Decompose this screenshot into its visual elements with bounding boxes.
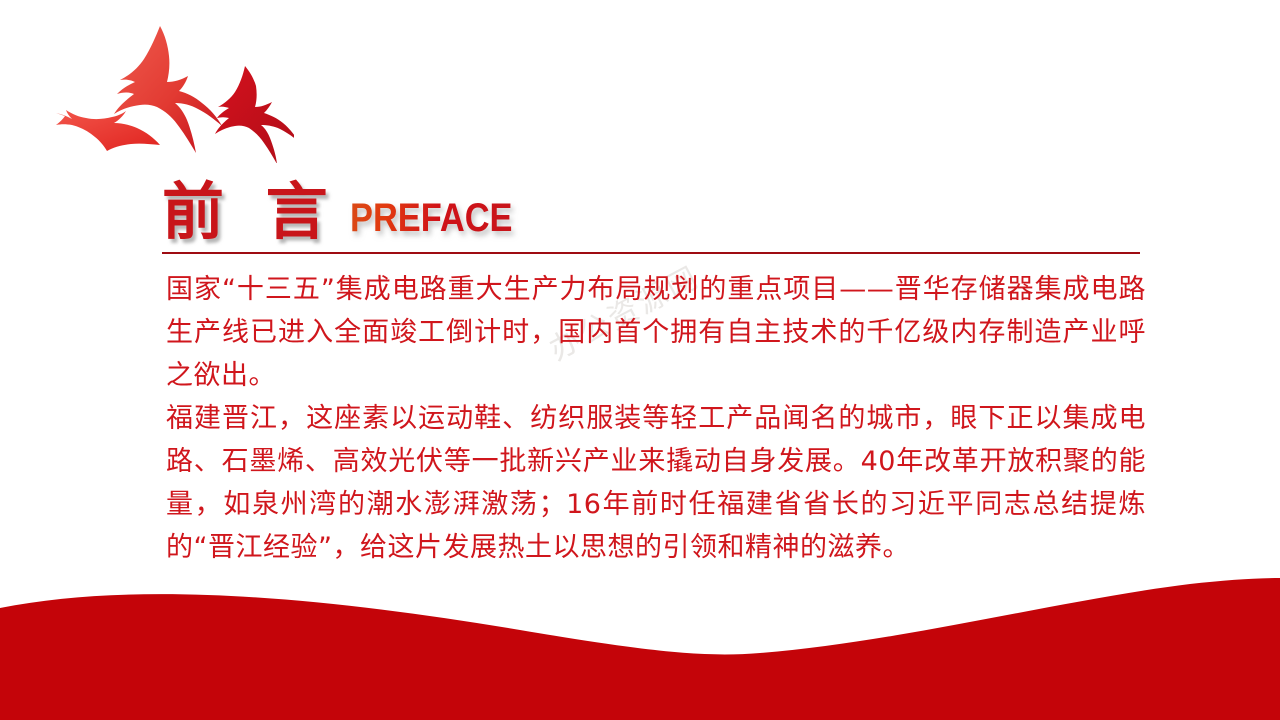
bird-medium-icon (215, 66, 294, 163)
title-divider (162, 252, 1140, 254)
page-title-en: PREFACE (350, 198, 512, 238)
flying-birds-icon (34, 18, 294, 163)
flying-birds-decoration (34, 18, 294, 163)
page-title: 前 言 PREFACE (162, 163, 539, 243)
bird-large-icon (114, 26, 222, 153)
red-wave-shape (0, 520, 1280, 720)
page-title-cn: 前 言 (162, 181, 338, 243)
preface-slide: 办公资源网 前 言 PREFACE 国家“十三五”集成电路重大生产力布局规划的重… (0, 0, 1280, 720)
body-paragraph-1: 国家“十三五”集成电路重大生产力布局规划的重点项目——晋华存储器集成电路生产线已… (166, 268, 1146, 397)
bird-small-icon (56, 110, 160, 151)
